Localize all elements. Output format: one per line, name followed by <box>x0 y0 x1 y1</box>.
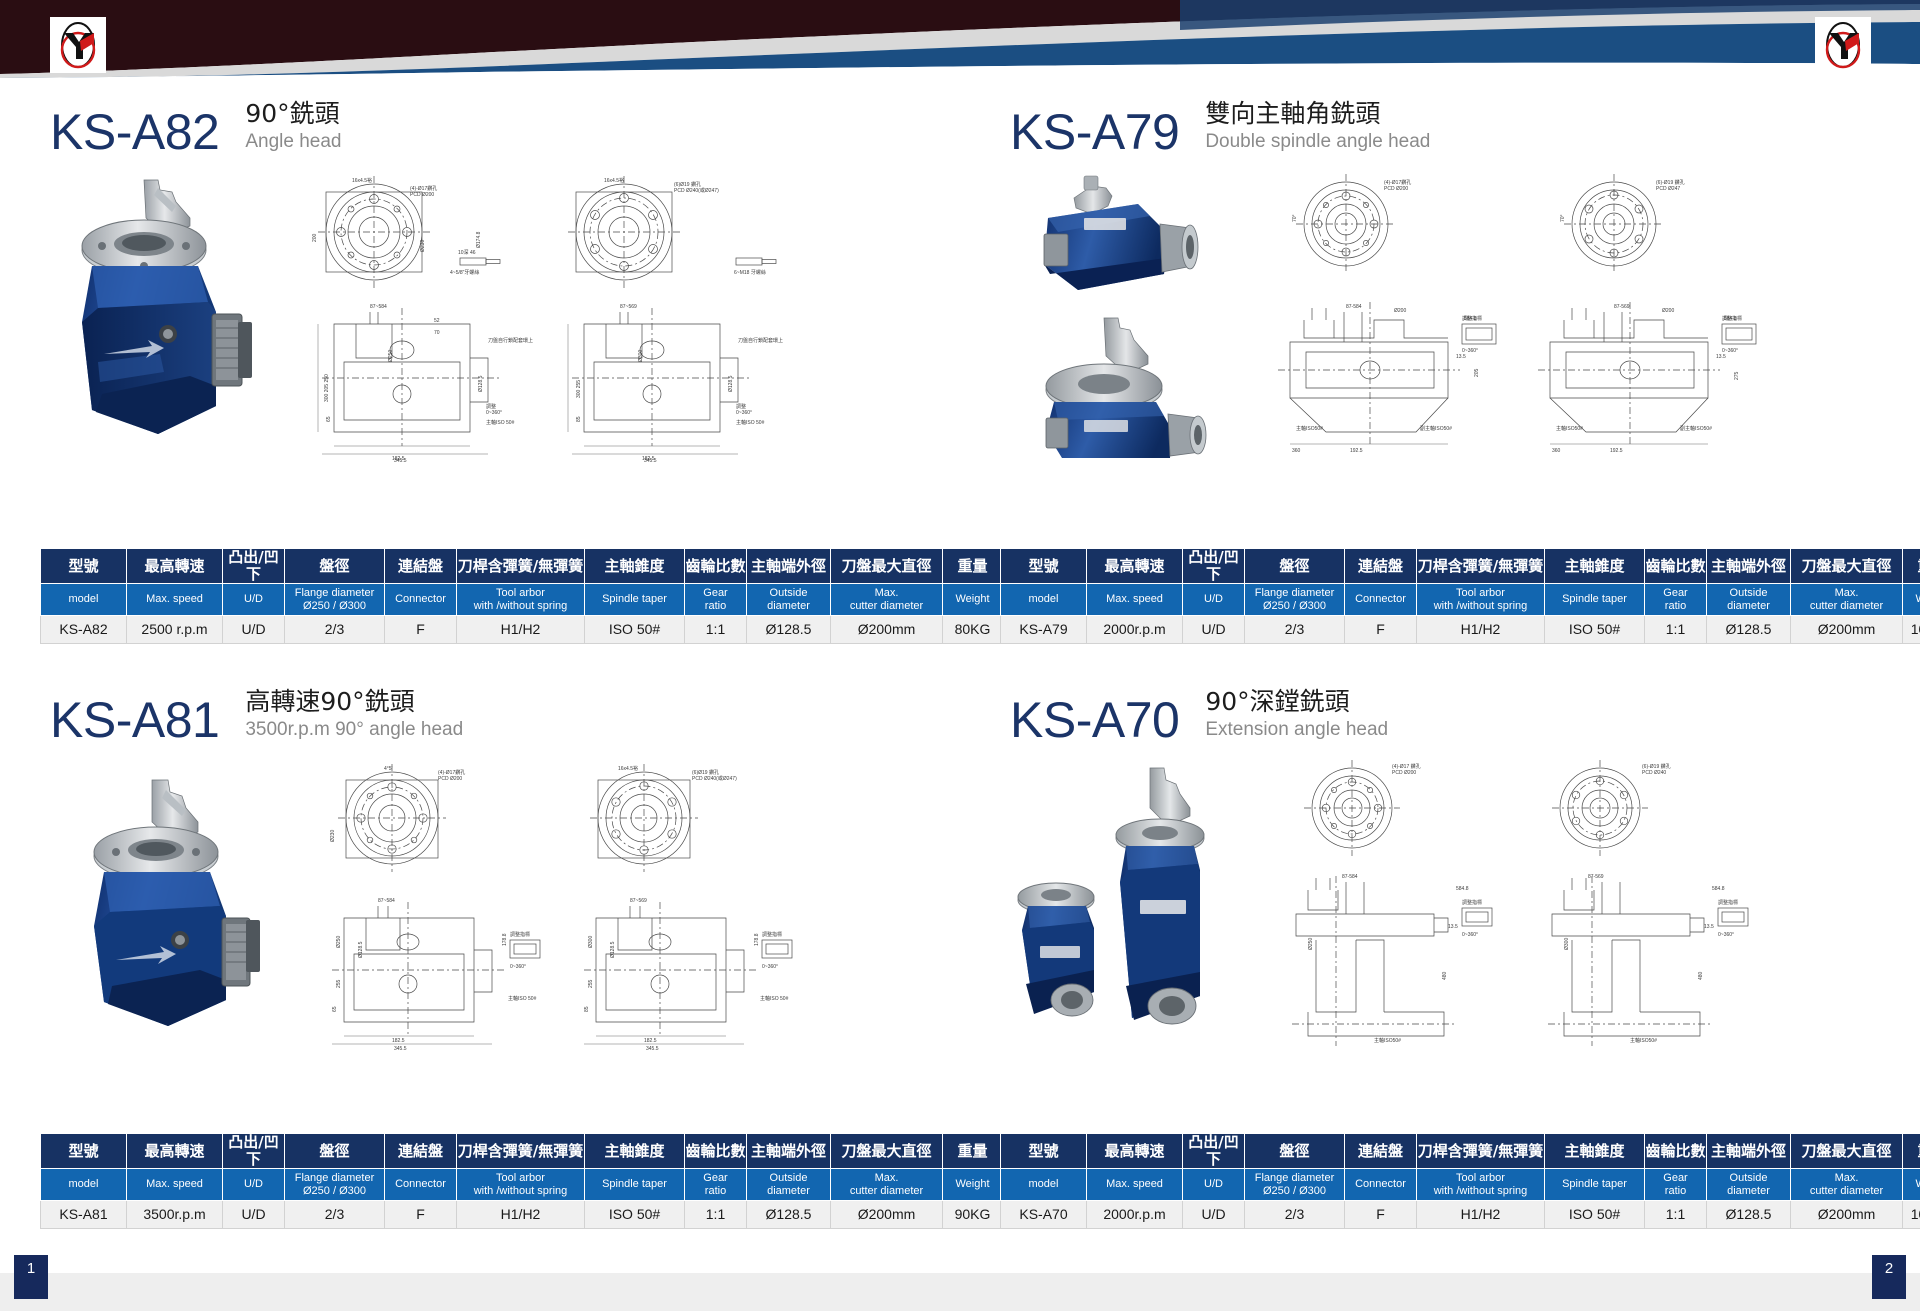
product-block-ks-a79: KS-A79 雙向主軸角銑頭 Double spindle angle head <box>960 82 1920 670</box>
svg-text:(4)-Ø17鑽孔: (4)-Ø17鑽孔 <box>410 185 437 192</box>
cell-gear-ratio: 1:1 <box>1645 1201 1707 1229</box>
cell-flange: 2/3 <box>285 616 385 644</box>
svg-text:Ø128.5: Ø128.5 <box>728 375 734 392</box>
svg-text:16x4.5裕: 16x4.5裕 <box>352 177 372 184</box>
svg-text:(6)-Ø19 鑽孔: (6)-Ø19 鑽孔 <box>1642 763 1671 770</box>
svg-text:13.5: 13.5 <box>1448 924 1458 930</box>
col-en-9: Max.cutter diameter <box>831 584 943 616</box>
catalog-page: KS-A82 90°銑頭 Angle head <box>0 0 1920 1311</box>
col-en-2: U/D <box>1183 1169 1245 1201</box>
cell-connector: F <box>385 616 457 644</box>
svg-text:205: 205 <box>1474 368 1480 377</box>
product-title-en: Double spindle angle head <box>1205 131 1430 154</box>
product-header: KS-A81 高轉速90°銑頭 3500r.p.m 90° angle head <box>50 688 463 745</box>
col-cn-8: 主軸端外徑 <box>747 549 831 584</box>
col-en-1: Max. speed <box>1087 584 1183 616</box>
svg-text:Ø174.8: Ø174.8 <box>476 231 482 248</box>
col-en-1: Max. speed <box>127 584 223 616</box>
svg-text:87~584: 87~584 <box>370 304 387 310</box>
cell-tool-arbor: H1/H2 <box>1417 1201 1545 1229</box>
col-en-7: Gearratio <box>685 1169 747 1201</box>
svg-text:(6)-Ø19 鑽孔: (6)-Ø19 鑽孔 <box>1656 179 1685 186</box>
company-y-logo-secondary <box>1815 17 1871 73</box>
col-en-3: Flange diameterØ250 / Ø300 <box>285 584 385 616</box>
col-en-7: Gearratio <box>685 584 747 616</box>
product-model-name: KS-A82 <box>50 107 219 157</box>
col-cn-10: 重量 <box>1903 549 1920 584</box>
col-cn-8: 主軸端外徑 <box>1707 549 1791 584</box>
product-title-cn: 90°銑頭 <box>245 100 341 129</box>
svg-text:192.5: 192.5 <box>1610 448 1623 454</box>
svg-text:255: 255 <box>336 979 342 988</box>
svg-text:Ø128.5: Ø128.5 <box>478 375 484 392</box>
col-cn-5: 刀桿含彈簧/無彈簧 <box>1417 549 1545 584</box>
product-block-ks-a81: KS-A81 高轉速90°銑頭 3500r.p.m 90° angle head <box>0 670 960 1255</box>
table-header-en: model Max. speed U/D Flange diameterØ250… <box>1001 1169 1920 1201</box>
product-figures: 16x4.5裕 (4)-Ø17鑽孔PCD Ø200 16x4.5裕 (6)Ø19… <box>40 162 920 462</box>
svg-text:PCD Ø247: PCD Ø247 <box>1656 186 1680 192</box>
svg-text:0~360°: 0~360° <box>1718 932 1734 938</box>
col-en-7: Gearratio <box>1645 584 1707 616</box>
col-en-2: U/D <box>223 1169 285 1201</box>
col-cn-7: 齒輪比數 <box>685 549 747 584</box>
svg-text:Ø300: Ø300 <box>638 350 644 362</box>
svg-text:主軸ISO 50#: 主軸ISO 50# <box>760 995 789 1002</box>
svg-text:87-584: 87-584 <box>1342 874 1358 880</box>
cell-connector: F <box>385 1201 457 1229</box>
product-figures: (4)-Ø17 鑽孔PCD Ø200 (6)-Ø19 鑽孔PCD Ø240 87… <box>1000 750 1880 1050</box>
col-en-3: Flange diameterØ250 / Ø300 <box>285 1169 385 1201</box>
svg-text:255: 255 <box>588 979 594 988</box>
col-cn-3: 盤徑 <box>1245 1134 1345 1169</box>
svg-text:52: 52 <box>434 318 440 324</box>
cell-ud: U/D <box>1183 1201 1245 1229</box>
product-header: KS-A70 90°深鏜銑頭 Extension angle head <box>1010 688 1388 745</box>
table-header-cn: 型號 最高轉速 凸出/凹下 盤徑 連結盤 刀桿含彈簧/無彈簧 主軸錐度 齒輪比數… <box>1001 1134 1920 1169</box>
col-cn-3: 盤徑 <box>285 1134 385 1169</box>
col-en-2: U/D <box>223 584 285 616</box>
cell-spindle-taper: ISO 50# <box>585 616 685 644</box>
svg-text:0~360°: 0~360° <box>1462 932 1478 938</box>
product-header: KS-A82 90°銑頭 Angle head <box>50 100 341 157</box>
col-en-8: Outsidediameter <box>747 584 831 616</box>
cell-max-speed: 3500r.p.m <box>127 1201 223 1229</box>
spec-table-ks-a82: 型號 最高轉速 凸出/凹下 盤徑 連結盤 刀桿含彈簧/無彈簧 主軸錐度 齒輪比數… <box>40 548 1003 644</box>
svg-text:副主軸ISO50#: 副主軸ISO50# <box>1680 425 1712 432</box>
svg-text:192.5: 192.5 <box>1350 448 1363 454</box>
cell-flange: 2/3 <box>1245 616 1345 644</box>
svg-text:0~360°: 0~360° <box>736 410 752 416</box>
cell-tool-arbor: H1/H2 <box>457 616 585 644</box>
col-cn-6: 主軸錐度 <box>1545 549 1645 584</box>
col-cn-2: 凸出/凹下 <box>1183 1134 1245 1169</box>
svg-text:10深 46: 10深 46 <box>458 249 476 256</box>
col-en-6: Spindle taper <box>585 584 685 616</box>
svg-text:87~584: 87~584 <box>378 898 395 904</box>
cell-max-cutter: Ø200mm <box>831 1201 943 1229</box>
svg-text:調整指標: 調整指標 <box>1462 899 1482 906</box>
svg-text:182.5: 182.5 <box>644 1038 657 1044</box>
col-cn-4: 連結盤 <box>385 549 457 584</box>
product-photo-ks-a70 <box>1000 750 1228 1050</box>
col-cn-5: 刀桿含彈簧/無彈簧 <box>1417 1134 1545 1169</box>
cell-max-cutter: Ø200mm <box>1791 616 1903 644</box>
cell-outside-dia: Ø128.5 <box>1707 616 1791 644</box>
svg-text:主軸ISO 50#: 主軸ISO 50# <box>486 419 515 426</box>
svg-text:480: 480 <box>1442 971 1448 980</box>
col-en-10: Weight <box>1903 584 1920 616</box>
col-cn-4: 連結盤 <box>1345 1134 1417 1169</box>
page-number-right: 2 <box>1872 1255 1906 1299</box>
svg-text:PCD Ø240: PCD Ø240 <box>1642 770 1666 776</box>
svg-text:65: 65 <box>326 416 332 422</box>
svg-text:16x4.5裕: 16x4.5裕 <box>618 765 638 772</box>
svg-text:13.5: 13.5 <box>1456 354 1466 360</box>
col-en-3: Flange diameterØ250 / Ø300 <box>1245 584 1345 616</box>
svg-text:Ø250: Ø250 <box>1308 938 1314 950</box>
col-cn-10: 重量 <box>1903 1134 1920 1169</box>
cell-outside-dia: Ø128.5 <box>1707 1201 1791 1229</box>
svg-text:PCD Ø200: PCD Ø200 <box>1384 186 1408 192</box>
table-row: KS-A82 2500 r.p.m U/D 2/3 F H1/H2 ISO 50… <box>41 616 1003 644</box>
cell-max-speed: 2000r.p.m <box>1087 1201 1183 1229</box>
svg-text:Ø128.5: Ø128.5 <box>610 941 616 958</box>
svg-text:300 205 250: 300 205 250 <box>324 374 330 402</box>
svg-text:PCD Ø240(或Ø247): PCD Ø240(或Ø247) <box>674 187 719 194</box>
col-en-5: Tool arborwith /without spring <box>1417 584 1545 616</box>
cell-ud: U/D <box>1183 616 1245 644</box>
cell-flange: 2/3 <box>285 1201 385 1229</box>
svg-text:360: 360 <box>1292 448 1301 454</box>
col-en-5: Tool arborwith /without spring <box>457 584 585 616</box>
product-figures: 4°5' (4)-Ø17鑽孔PCD Ø200 16x4.5裕 (6)Ø19 鑽孔… <box>40 750 920 1050</box>
dimension-drawings: 4°5' (4)-Ø17鑽孔PCD Ø200 16x4.5裕 (6)Ø19 鑽孔… <box>274 750 920 1050</box>
svg-text:0~360°: 0~360° <box>486 410 502 416</box>
svg-text:85: 85 <box>584 1006 590 1012</box>
col-cn-9: 刀盤最大直徑 <box>1791 1134 1903 1169</box>
col-en-9: Max.cutter diameter <box>1791 584 1903 616</box>
svg-text:178.8: 178.8 <box>502 933 508 946</box>
extension-angle-head-photo-illustration <box>1000 750 1228 1050</box>
svg-text:70: 70 <box>434 330 440 336</box>
svg-text:87-584: 87-584 <box>1346 304 1362 310</box>
cell-ud: U/D <box>223 616 285 644</box>
svg-text:87~569: 87~569 <box>630 898 647 904</box>
col-en-4: Connector <box>385 1169 457 1201</box>
svg-text:300 255: 300 255 <box>576 380 582 398</box>
col-cn-7: 齒輪比數 <box>1645 1134 1707 1169</box>
svg-text:Ø200: Ø200 <box>1394 308 1406 314</box>
col-cn-2: 凸出/凹下 <box>223 549 285 584</box>
svg-text:0~360°: 0~360° <box>510 964 526 970</box>
svg-text:Ø128.5: Ø128.5 <box>358 941 364 958</box>
table-header-cn: 型號 最高轉速 凸出/凹下 盤徑 連結盤 刀桿含彈簧/無彈簧 主軸錐度 齒輪比數… <box>41 1134 1003 1169</box>
col-cn-1: 最高轉速 <box>127 549 223 584</box>
technical-drawings-ks-a70: (4)-Ø17 鑽孔PCD Ø200 (6)-Ø19 鑽孔PCD Ø240 87… <box>1234 750 1880 1050</box>
svg-text:調整: 調整 <box>486 403 496 410</box>
product-block-ks-a82: KS-A82 90°銑頭 Angle head <box>0 82 960 670</box>
table-header-cn: 型號 最高轉速 凸出/凹下 盤徑 連結盤 刀桿含彈簧/無彈簧 主軸錐度 齒輪比數… <box>1001 549 1920 584</box>
col-cn-4: 連結盤 <box>385 1134 457 1169</box>
svg-text:16x4.5裕: 16x4.5裕 <box>604 177 624 184</box>
spec-table-ks-a70: 型號 最高轉速 凸出/凹下 盤徑 連結盤 刀桿含彈簧/無彈簧 主軸錐度 齒輪比數… <box>1000 1133 1920 1229</box>
product-model-name: KS-A81 <box>50 695 219 745</box>
cell-model: KS-A82 <box>41 616 127 644</box>
svg-text:調整指標: 調整指標 <box>762 931 782 938</box>
col-en-3: Flange diameterØ250 / Ø300 <box>1245 1169 1345 1201</box>
col-en-1: Max. speed <box>127 1169 223 1201</box>
col-en-10: Weight <box>1903 1169 1920 1201</box>
col-en-0: model <box>1001 584 1087 616</box>
table-header-en: model Max. speed U/D Flange diameterØ250… <box>1001 584 1920 616</box>
svg-text:調整指標: 調整指標 <box>1462 315 1482 322</box>
product-photo-ks-a79 <box>1000 162 1228 462</box>
cell-max-cutter: Ø200mm <box>831 616 943 644</box>
col-cn-5: 刀桿含彈簧/無彈簧 <box>457 549 585 584</box>
table-header-en: model Max. speed U/D Flange diameterØ250… <box>41 584 1003 616</box>
col-cn-0: 型號 <box>1001 1134 1087 1169</box>
col-en-5: Tool arborwith /without spring <box>457 1169 585 1201</box>
col-cn-6: 主軸錐度 <box>1545 1134 1645 1169</box>
svg-text:6~M18 牙螺絲: 6~M18 牙螺絲 <box>734 269 766 276</box>
col-cn-5: 刀桿含彈簧/無彈簧 <box>457 1134 585 1169</box>
logo-mark-icon <box>50 17 106 73</box>
svg-text:275: 275 <box>1734 371 1740 380</box>
col-cn-2: 凸出/凹下 <box>1183 549 1245 584</box>
svg-text:182.5: 182.5 <box>392 1038 405 1044</box>
cell-max-speed: 2000r.p.m <box>1087 616 1183 644</box>
svg-text:200: 200 <box>312 233 318 242</box>
svg-text:PCD Ø200: PCD Ø200 <box>438 776 462 782</box>
spec-table-ks-a79: 型號 最高轉速 凸出/凹下 盤徑 連結盤 刀桿含彈簧/無彈簧 主軸錐度 齒輪比數… <box>1000 548 1920 644</box>
svg-text:調整指標: 調整指標 <box>510 931 530 938</box>
page-footer: 1 2 <box>0 1255 1920 1311</box>
col-cn-1: 最高轉速 <box>1087 549 1183 584</box>
cell-max-cutter: Ø200mm <box>1791 1201 1903 1229</box>
svg-text:4°5': 4°5' <box>384 766 393 772</box>
product-photo-ks-a81 <box>40 750 268 1050</box>
angle-head-photo-illustration <box>40 162 268 462</box>
col-en-8: Outsidediameter <box>1707 1169 1791 1201</box>
dimension-drawings: 16x4.5裕 (4)-Ø17鑽孔PCD Ø200 16x4.5裕 (6)Ø19… <box>274 162 920 462</box>
col-cn-8: 主軸端外徑 <box>1707 1134 1791 1169</box>
svg-text:主軸ISO 50#: 主軸ISO 50# <box>508 995 537 1002</box>
col-en-8: Outsidediameter <box>747 1169 831 1201</box>
cell-weight: 100KG <box>1903 616 1920 644</box>
technical-drawings-ks-a79: (4)-Ø17鑽孔PCD Ø200 (6)-Ø19 鑽孔PCD Ø247 87-… <box>1234 162 1880 462</box>
cell-gear-ratio: 1:1 <box>685 1201 747 1229</box>
logo-mark-icon <box>1815 17 1871 73</box>
svg-text:0~360°: 0~360° <box>762 964 778 970</box>
svg-text:Ø250: Ø250 <box>388 350 394 362</box>
svg-text:刀盤自行鎖配套環上: 刀盤自行鎖配套環上 <box>738 337 783 344</box>
col-cn-0: 型號 <box>41 1134 127 1169</box>
svg-text:Ø230: Ø230 <box>420 240 426 252</box>
cell-tool-arbor: H1/H2 <box>457 1201 585 1229</box>
svg-text:345.5: 345.5 <box>644 458 657 462</box>
svg-text:70°: 70° <box>1560 214 1566 222</box>
technical-drawings-ks-a82: 16x4.5裕 (4)-Ø17鑽孔PCD Ø200 16x4.5裕 (6)Ø19… <box>274 162 920 462</box>
col-cn-1: 最高轉速 <box>127 1134 223 1169</box>
cell-flange: 2/3 <box>1245 1201 1345 1229</box>
cell-max-speed: 2500 r.p.m <box>127 616 223 644</box>
col-cn-4: 連結盤 <box>1345 549 1417 584</box>
svg-text:調整指標: 調整指標 <box>1722 315 1742 322</box>
svg-text:(6)Ø19 鑽孔: (6)Ø19 鑽孔 <box>674 181 701 188</box>
cell-spindle-taper: ISO 50# <box>1545 616 1645 644</box>
product-title-en: 3500r.p.m 90° angle head <box>245 719 463 742</box>
high-speed-angle-head-photo-illustration <box>40 750 268 1050</box>
svg-text:(6)Ø19 鑽孔: (6)Ø19 鑽孔 <box>692 769 719 776</box>
svg-text:主軸ISO50#: 主軸ISO50# <box>1630 1037 1657 1044</box>
table-header-en: model Max. speed U/D Flange diameterØ250… <box>41 1169 1003 1201</box>
page-banner <box>0 0 1920 82</box>
svg-text:PCD Ø200: PCD Ø200 <box>410 192 434 198</box>
cell-gear-ratio: 1:1 <box>685 616 747 644</box>
col-cn-9: 刀盤最大直徑 <box>1791 549 1903 584</box>
dimension-drawings: (4)-Ø17鑽孔PCD Ø200 (6)-Ø19 鑽孔PCD Ø247 87-… <box>1234 162 1880 462</box>
svg-text:調整: 調整 <box>736 403 746 410</box>
cell-spindle-taper: ISO 50# <box>1545 1201 1645 1229</box>
col-cn-7: 齒輪比數 <box>685 1134 747 1169</box>
product-title-cn: 90°深鏜銑頭 <box>1205 688 1388 717</box>
col-en-4: Connector <box>385 584 457 616</box>
col-en-4: Connector <box>1345 1169 1417 1201</box>
col-en-1: Max. speed <box>1087 1169 1183 1201</box>
product-model-name: KS-A70 <box>1010 695 1179 745</box>
col-en-9: Max.cutter diameter <box>1791 1169 1903 1201</box>
cell-tool-arbor: H1/H2 <box>1417 616 1545 644</box>
svg-text:PCD Ø240(或Ø247): PCD Ø240(或Ø247) <box>692 775 737 782</box>
svg-text:345.5: 345.5 <box>646 1046 659 1050</box>
svg-text:345.5: 345.5 <box>394 458 407 462</box>
svg-text:584.8: 584.8 <box>1456 886 1469 892</box>
svg-text:主軸ISO 50#: 主軸ISO 50# <box>736 419 765 426</box>
svg-text:87-569: 87-569 <box>1588 874 1604 880</box>
cell-model: KS-A79 <box>1001 616 1087 644</box>
page-number-left: 1 <box>14 1255 48 1299</box>
svg-text:13.5: 13.5 <box>1704 924 1714 930</box>
company-y-logo <box>50 17 106 73</box>
svg-text:Ø230: Ø230 <box>330 830 336 842</box>
svg-text:0~360°: 0~360° <box>1462 348 1478 354</box>
col-en-0: model <box>41 584 127 616</box>
col-cn-9: 刀盤最大直徑 <box>831 549 943 584</box>
cell-outside-dia: Ø128.5 <box>747 1201 831 1229</box>
svg-text:刀盤自行鎖配套環上: 刀盤自行鎖配套環上 <box>488 337 533 344</box>
svg-text:Ø300: Ø300 <box>588 936 594 948</box>
svg-text:(4)-Ø17鑽孔: (4)-Ø17鑽孔 <box>438 769 465 776</box>
col-en-6: Spindle taper <box>1545 584 1645 616</box>
col-en-0: model <box>1001 1169 1087 1201</box>
svg-text:584.8: 584.8 <box>1712 886 1725 892</box>
svg-text:主軸ISO50#: 主軸ISO50# <box>1556 425 1583 432</box>
col-cn-9: 刀盤最大直徑 <box>831 1134 943 1169</box>
svg-text:87-569: 87-569 <box>1614 304 1630 310</box>
svg-text:(4)-Ø17鑽孔: (4)-Ø17鑽孔 <box>1384 179 1411 186</box>
col-en-6: Spindle taper <box>1545 1169 1645 1201</box>
svg-text:0~360°: 0~360° <box>1722 348 1738 354</box>
cell-weight: 105KG <box>1903 1201 1920 1229</box>
svg-text:調整指標: 調整指標 <box>1718 899 1738 906</box>
cell-connector: F <box>1345 616 1417 644</box>
svg-text:PCD Ø200: PCD Ø200 <box>1392 770 1416 776</box>
cell-model: KS-A81 <box>41 1201 127 1229</box>
svg-text:Ø200: Ø200 <box>1662 308 1674 314</box>
cell-outside-dia: Ø128.5 <box>747 616 831 644</box>
svg-text:70°: 70° <box>1292 214 1298 222</box>
svg-text:178.8: 178.8 <box>754 933 760 946</box>
col-cn-6: 主軸錐度 <box>585 1134 685 1169</box>
product-title-cn: 高轉速90°銑頭 <box>245 688 463 717</box>
product-figures: (4)-Ø17鑽孔PCD Ø200 (6)-Ø19 鑽孔PCD Ø247 87-… <box>1000 162 1880 462</box>
spec-table-ks-a81: 型號 最高轉速 凸出/凹下 盤徑 連結盤 刀桿含彈簧/無彈簧 主軸錐度 齒輪比數… <box>40 1133 1003 1229</box>
col-cn-0: 型號 <box>41 549 127 584</box>
col-en-7: Gearratio <box>1645 1169 1707 1201</box>
col-en-2: U/D <box>1183 584 1245 616</box>
svg-text:85: 85 <box>576 416 582 422</box>
product-photo-ks-a82 <box>40 162 268 462</box>
svg-text:Ø300: Ø300 <box>1564 938 1570 950</box>
svg-text:Ø250: Ø250 <box>336 936 342 948</box>
svg-text:345.5: 345.5 <box>394 1046 407 1050</box>
technical-drawings-ks-a81: 4°5' (4)-Ø17鑽孔PCD Ø200 16x4.5裕 (6)Ø19 鑽孔… <box>274 750 920 1050</box>
col-en-0: model <box>41 1169 127 1201</box>
product-model-name: KS-A79 <box>1010 107 1179 157</box>
col-cn-3: 盤徑 <box>1245 549 1345 584</box>
svg-text:4~5/8"牙螺絲: 4~5/8"牙螺絲 <box>450 269 479 276</box>
col-en-5: Tool arborwith /without spring <box>1417 1169 1545 1201</box>
svg-text:13.5: 13.5 <box>1716 354 1726 360</box>
col-en-4: Connector <box>1345 584 1417 616</box>
cell-gear-ratio: 1:1 <box>1645 616 1707 644</box>
product-title-en: Angle head <box>245 131 341 154</box>
banner-graphic <box>0 0 1920 82</box>
col-en-8: Outsidediameter <box>1707 584 1791 616</box>
col-cn-7: 齒輪比數 <box>1645 549 1707 584</box>
svg-text:480: 480 <box>1698 971 1704 980</box>
product-title-en: Extension angle head <box>1205 719 1388 742</box>
svg-text:副主軸ISO50#: 副主軸ISO50# <box>1420 425 1452 432</box>
dimension-drawings: (4)-Ø17 鑽孔PCD Ø200 (6)-Ø19 鑽孔PCD Ø240 87… <box>1234 750 1880 1050</box>
col-cn-6: 主軸錐度 <box>585 549 685 584</box>
col-en-6: Spindle taper <box>585 1169 685 1201</box>
svg-text:360: 360 <box>1552 448 1561 454</box>
table-header-cn: 型號 最高轉速 凸出/凹下 盤徑 連結盤 刀桿含彈簧/無彈簧 主軸錐度 齒輪比數… <box>41 549 1003 584</box>
cell-connector: F <box>1345 1201 1417 1229</box>
svg-text:主軸ISO50#: 主軸ISO50# <box>1296 425 1323 432</box>
product-title-cn: 雙向主軸角銑頭 <box>1205 100 1430 129</box>
col-cn-8: 主軸端外徑 <box>747 1134 831 1169</box>
svg-text:65: 65 <box>332 1006 338 1012</box>
svg-text:(4)-Ø17 鑽孔: (4)-Ø17 鑽孔 <box>1392 763 1421 770</box>
col-cn-1: 最高轉速 <box>1087 1134 1183 1169</box>
footer-band <box>0 1273 1920 1311</box>
table-row: KS-A81 3500r.p.m U/D 2/3 F H1/H2 ISO 50#… <box>41 1201 1003 1229</box>
product-header: KS-A79 雙向主軸角銑頭 Double spindle angle head <box>1010 100 1430 157</box>
cell-spindle-taper: ISO 50# <box>585 1201 685 1229</box>
svg-text:87~569: 87~569 <box>620 304 637 310</box>
cell-model: KS-A70 <box>1001 1201 1087 1229</box>
svg-text:主軸ISO50#: 主軸ISO50# <box>1374 1037 1401 1044</box>
col-cn-0: 型號 <box>1001 549 1087 584</box>
table-row: KS-A79 2000r.p.m U/D 2/3 F H1/H2 ISO 50#… <box>1001 616 1920 644</box>
col-en-9: Max.cutter diameter <box>831 1169 943 1201</box>
table-row: KS-A70 2000r.p.m U/D 2/3 F H1/H2 ISO 50#… <box>1001 1201 1920 1229</box>
double-spindle-head-photo-illustration <box>1000 162 1228 462</box>
product-block-ks-a70: KS-A70 90°深鏜銑頭 Extension angle head <box>960 670 1920 1255</box>
cell-ud: U/D <box>223 1201 285 1229</box>
